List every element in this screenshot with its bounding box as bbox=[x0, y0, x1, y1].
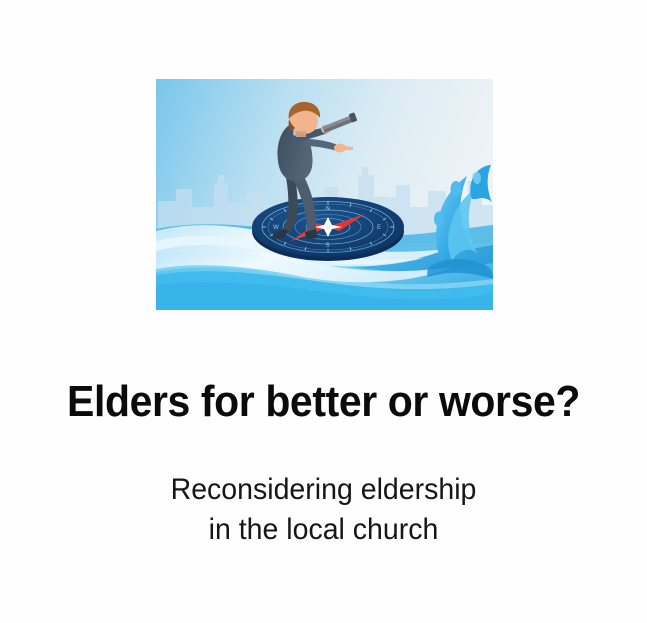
subtitle-line-2: in the local church bbox=[16, 510, 631, 550]
splash-droplet bbox=[473, 172, 481, 184]
hero-illustration: N E S W bbox=[156, 79, 493, 310]
svg-text:S: S bbox=[326, 243, 330, 249]
slide-canvas: N E S W bbox=[0, 0, 647, 623]
splash-droplet bbox=[434, 212, 444, 227]
subtitle-line-1: Reconsidering eldership bbox=[16, 470, 631, 510]
svg-text:W: W bbox=[273, 225, 279, 231]
page-title: Elders for better or worse? bbox=[23, 377, 625, 426]
svg-text:N: N bbox=[326, 206, 330, 212]
splash-droplet bbox=[451, 181, 462, 197]
svg-text:E: E bbox=[377, 225, 381, 231]
neck bbox=[296, 131, 306, 137]
subtitle-block: Reconsidering eldership in the local chu… bbox=[0, 470, 647, 550]
title-block: Elders for better or worse? bbox=[0, 377, 647, 426]
